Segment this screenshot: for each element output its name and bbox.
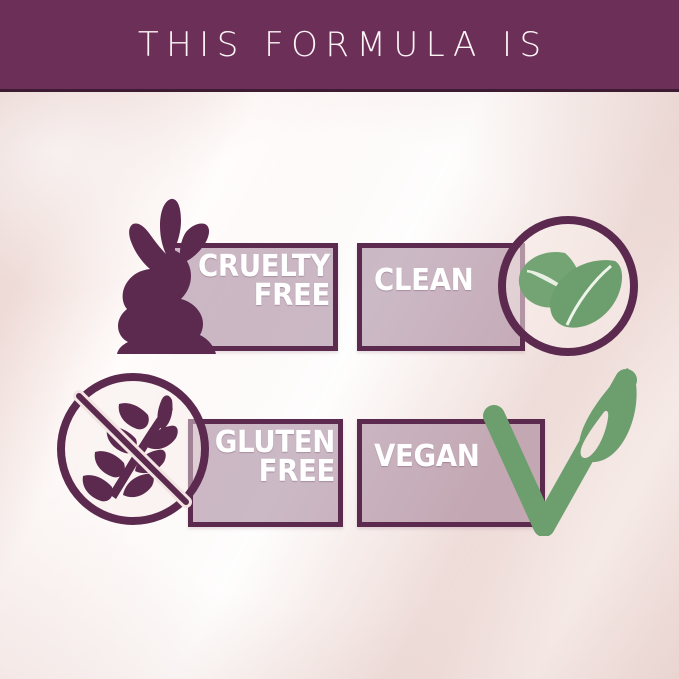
badge-label-cruelty-free: CRUELTY FREE bbox=[192, 252, 330, 310]
header-divider bbox=[0, 89, 679, 92]
page-title: THIS FORMULA IS bbox=[130, 28, 548, 62]
badge-cruelty-free: CRUELTY FREE bbox=[108, 196, 348, 358]
badge-label-gluten-free: GLUTEN FREE bbox=[206, 428, 335, 486]
leaf-notch bbox=[581, 411, 609, 458]
header-banner: THIS FORMULA IS bbox=[0, 0, 679, 89]
leaf-front bbox=[550, 260, 622, 327]
badge-vegan: VEGAN bbox=[352, 356, 642, 536]
formula-claims-poster: THIS FORMULA IS CRUELTY FREE CLEAN bbox=[0, 0, 679, 679]
badge-gluten-free: GLUTEN FREE bbox=[48, 366, 348, 534]
leaf-blade bbox=[579, 368, 637, 462]
badge-label-clean: CLEAN bbox=[374, 266, 503, 295]
badge-clean: CLEAN bbox=[352, 196, 642, 358]
wheat-stalk bbox=[83, 395, 178, 501]
badge-label-vegan: VEGAN bbox=[374, 442, 521, 471]
slash-line bbox=[79, 396, 186, 502]
leaf-back bbox=[519, 252, 580, 308]
